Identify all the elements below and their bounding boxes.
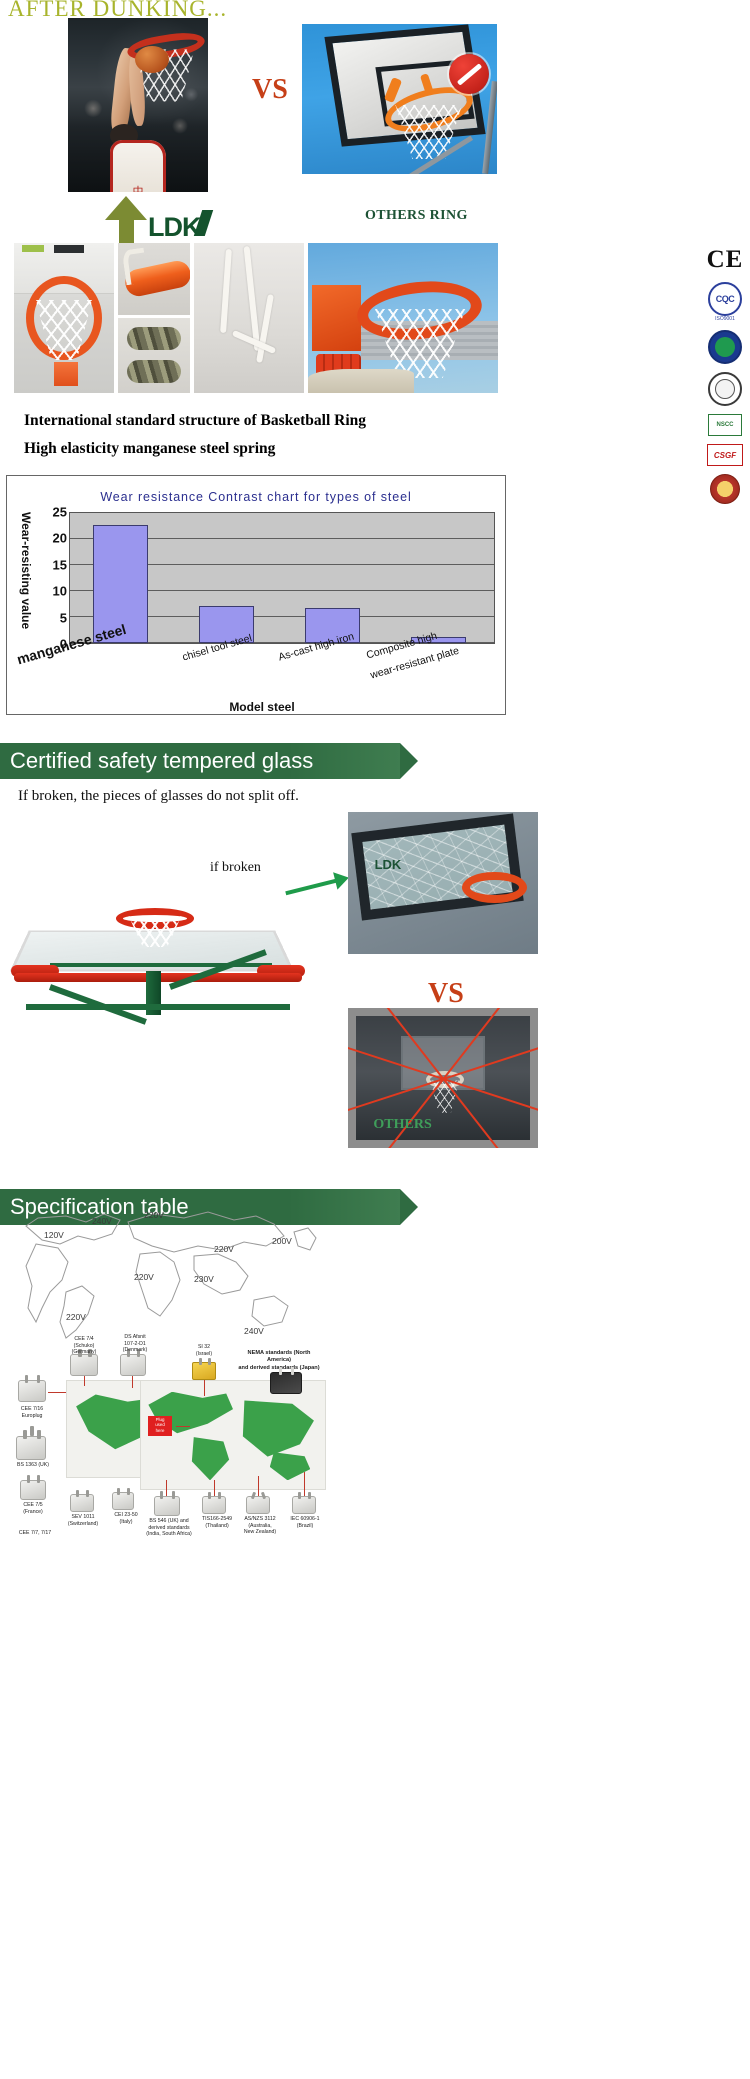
prohibited-icon [449, 54, 489, 94]
sev-1011-plug [70, 1494, 94, 1512]
ds-afsnit-107-2-d1-plug [120, 1354, 146, 1376]
banner-tempered-glass: Certified safety tempered glass [0, 743, 400, 779]
connector-line-5 [176, 1426, 190, 1427]
world-voltage-map: 120V 240V 220V 220V 200V 220V 230V 220V … [8, 1196, 328, 1346]
connector-line-9 [304, 1472, 305, 1496]
voltage-label-7: 220V [66, 1312, 86, 1322]
connector-line-3 [132, 1376, 133, 1388]
y-tick-15: 15 [53, 557, 67, 572]
player-jersey: 中 [110, 140, 166, 192]
cee-7-5-plug-label: CEE 7/5(France) [12, 1502, 54, 1515]
green-panel [22, 245, 44, 252]
ds-afsnit-107-2-d1-plug-label: DS Afsnit107-2-D1(Denmark) [112, 1334, 158, 1354]
tempered-glass-backboard-hoop-diagram [8, 890, 308, 1020]
connector-line-2 [84, 1376, 85, 1386]
iec-60906-1-plug-label: IEC 60906-1(Brazil) [284, 1516, 326, 1529]
spring-coil-upper [127, 327, 182, 350]
y-tick-25: 25 [53, 505, 67, 520]
net-loop [121, 247, 147, 284]
gold-seal-badge [710, 474, 740, 504]
connector-line-6 [166, 1480, 167, 1496]
manganese-steel-springs-photo [118, 318, 190, 393]
si-32-plug [192, 1362, 216, 1380]
si-32-plug-label: SI 32(Israel) [186, 1344, 222, 1357]
y-tick-20: 20 [53, 531, 67, 546]
glass-photo-ring [462, 872, 527, 903]
dark-panel [54, 245, 84, 254]
cee-7-16-europlug [18, 1380, 46, 1402]
ring-bracket [312, 285, 361, 351]
upward-arrow-icon [105, 196, 147, 250]
cqc-badge-sub: ISO9001 [715, 316, 735, 322]
broken-tempered-glass-closeup-photo: LDK [348, 812, 538, 954]
vs-label-top: VS [252, 74, 288, 106]
bs-1363-plug [16, 1436, 46, 1460]
diagram-base-bar [26, 1004, 290, 1010]
connector-line-1 [48, 1392, 66, 1393]
world-green-shape-2 [237, 1400, 314, 1456]
sand-ground [308, 369, 414, 393]
nylon-net-rope-photo [194, 243, 304, 393]
feature-caption-1: International standard structure of Bask… [24, 412, 366, 430]
chart-x-categories: manganese steel chisel tool steel As-cas… [69, 648, 495, 700]
feature-caption-2: High elasticity manganese steel spring [24, 440, 275, 458]
cei-23-50-plug [112, 1492, 134, 1510]
cqc-badge-label: CQC [716, 294, 735, 304]
sev-1011-plug-label: SEV 1011(Switzerland) [62, 1514, 104, 1527]
iec-60906-1-plug [292, 1496, 316, 1514]
chart-x-axis-label: Model steel [47, 700, 477, 714]
others-watermark-label: OTHERS [373, 1117, 431, 1133]
voltage-label-5: 220V [134, 1272, 154, 1282]
chart-title: Wear resistance Contrast chart for types… [7, 490, 505, 504]
chart-y-ticks: 25 20 15 10 5 0 [35, 512, 67, 644]
voltage-label-1: 240V [92, 1216, 112, 1226]
others-ring-label: OTHERS RING [365, 208, 468, 224]
voltage-label-2: 220V [144, 1210, 164, 1220]
brand-logo-text: LDK [148, 212, 201, 242]
cee-7-5-plug [20, 1480, 46, 1500]
mounting-plate [54, 362, 78, 386]
rope-strand-1 [220, 249, 232, 333]
cee-7-4-schuko-plug-label: CEE 7/4(Schuko)(Germany) [60, 1336, 108, 1356]
glass-brand-logo: LDK [375, 857, 402, 872]
ce-mark-badge: CE [707, 246, 744, 274]
voltage-label-0: 120V [44, 1230, 64, 1240]
certificate-badge-column: CE CQC ISO9001 NSCC CSGF [704, 246, 746, 504]
cei-23-50-plug-label: CEI 23-50(Italy) [106, 1512, 146, 1525]
nscc-badge: NSCC [708, 414, 742, 436]
as-nzs-3112-plug [246, 1496, 270, 1514]
brand-logo: LDK [148, 210, 209, 243]
if-broken-label: if broken [210, 860, 261, 876]
cee-7-4-schuko-plug [70, 1354, 98, 1376]
banner-tempered-glass-label: Certified safety tempered glass [10, 748, 313, 774]
others-shattered-backboard-photo: OTHERS [348, 1008, 538, 1148]
voltage-label-4: 200V [272, 1236, 292, 1246]
voltage-label-3: 220V [214, 1244, 234, 1254]
ring-tube-closeup-photo [118, 243, 190, 315]
world-plug-standards-chart: Plugusedhere NEMA standards (North Ameri… [8, 1348, 328, 1538]
jersey-logo: 中 [133, 183, 144, 192]
spring-coil-lower [127, 360, 182, 383]
others-photo-inner: OTHERS [356, 1016, 530, 1140]
bent-broken-ring-photo [302, 24, 497, 174]
bs-546-plug [154, 1496, 180, 1516]
installed-ring-outdoor-photo [308, 243, 498, 393]
y-tick-5: 5 [60, 610, 67, 625]
glass-subtitle: If broken, the pieces of glasses do not … [18, 788, 299, 805]
as-nzs-3112-plug-label: AS/NZS 3112(Australia,New Zealand) [238, 1516, 282, 1536]
voltage-label-6: 230V [194, 1274, 214, 1284]
tis-166-2549-plug-label: TIS166-2549(Thailand) [196, 1516, 238, 1529]
vs-label-glass: VS [428, 978, 464, 1010]
inspection-badge [708, 372, 742, 406]
voltage-label-8: 240V [244, 1326, 264, 1336]
wear-resistance-chart: Wear resistance Contrast chart for types… [6, 475, 506, 715]
cqc-iso9001-badge: CQC ISO9001 [708, 282, 742, 322]
world-map-outline-svg [8, 1196, 328, 1346]
csgf-badge: CSGF [707, 444, 743, 466]
orange-ring-with-net-photo [14, 243, 114, 393]
plug-used-here-callout: Plugusedhere [148, 1416, 172, 1436]
bs-1363-plug-label: BS 1363 (UK) [10, 1462, 56, 1469]
connector-line-7 [214, 1480, 215, 1496]
cee-7-7-plug-label: CEE 7/7, 7/17 [12, 1530, 58, 1537]
cee-7-16-europlug-label: CEE 7/16Europlug [10, 1406, 54, 1419]
connector-line-4 [204, 1380, 205, 1396]
world-green-shape-3 [185, 1437, 233, 1480]
bs-546-plug-label: BS 546 (UK) andderived standards(India, … [142, 1518, 196, 1538]
chart-plot-area [69, 512, 495, 644]
tis-166-2549-plug [202, 1496, 226, 1514]
connector-line-8 [258, 1476, 259, 1496]
china-quality-badge [708, 330, 742, 364]
y-tick-10: 10 [53, 584, 67, 599]
player-dunking-photo: 中 [68, 18, 208, 192]
chart-y-axis-label: Wear-resisting value [19, 512, 33, 652]
nema-plug-icon [270, 1372, 302, 1394]
basketball [135, 46, 169, 73]
